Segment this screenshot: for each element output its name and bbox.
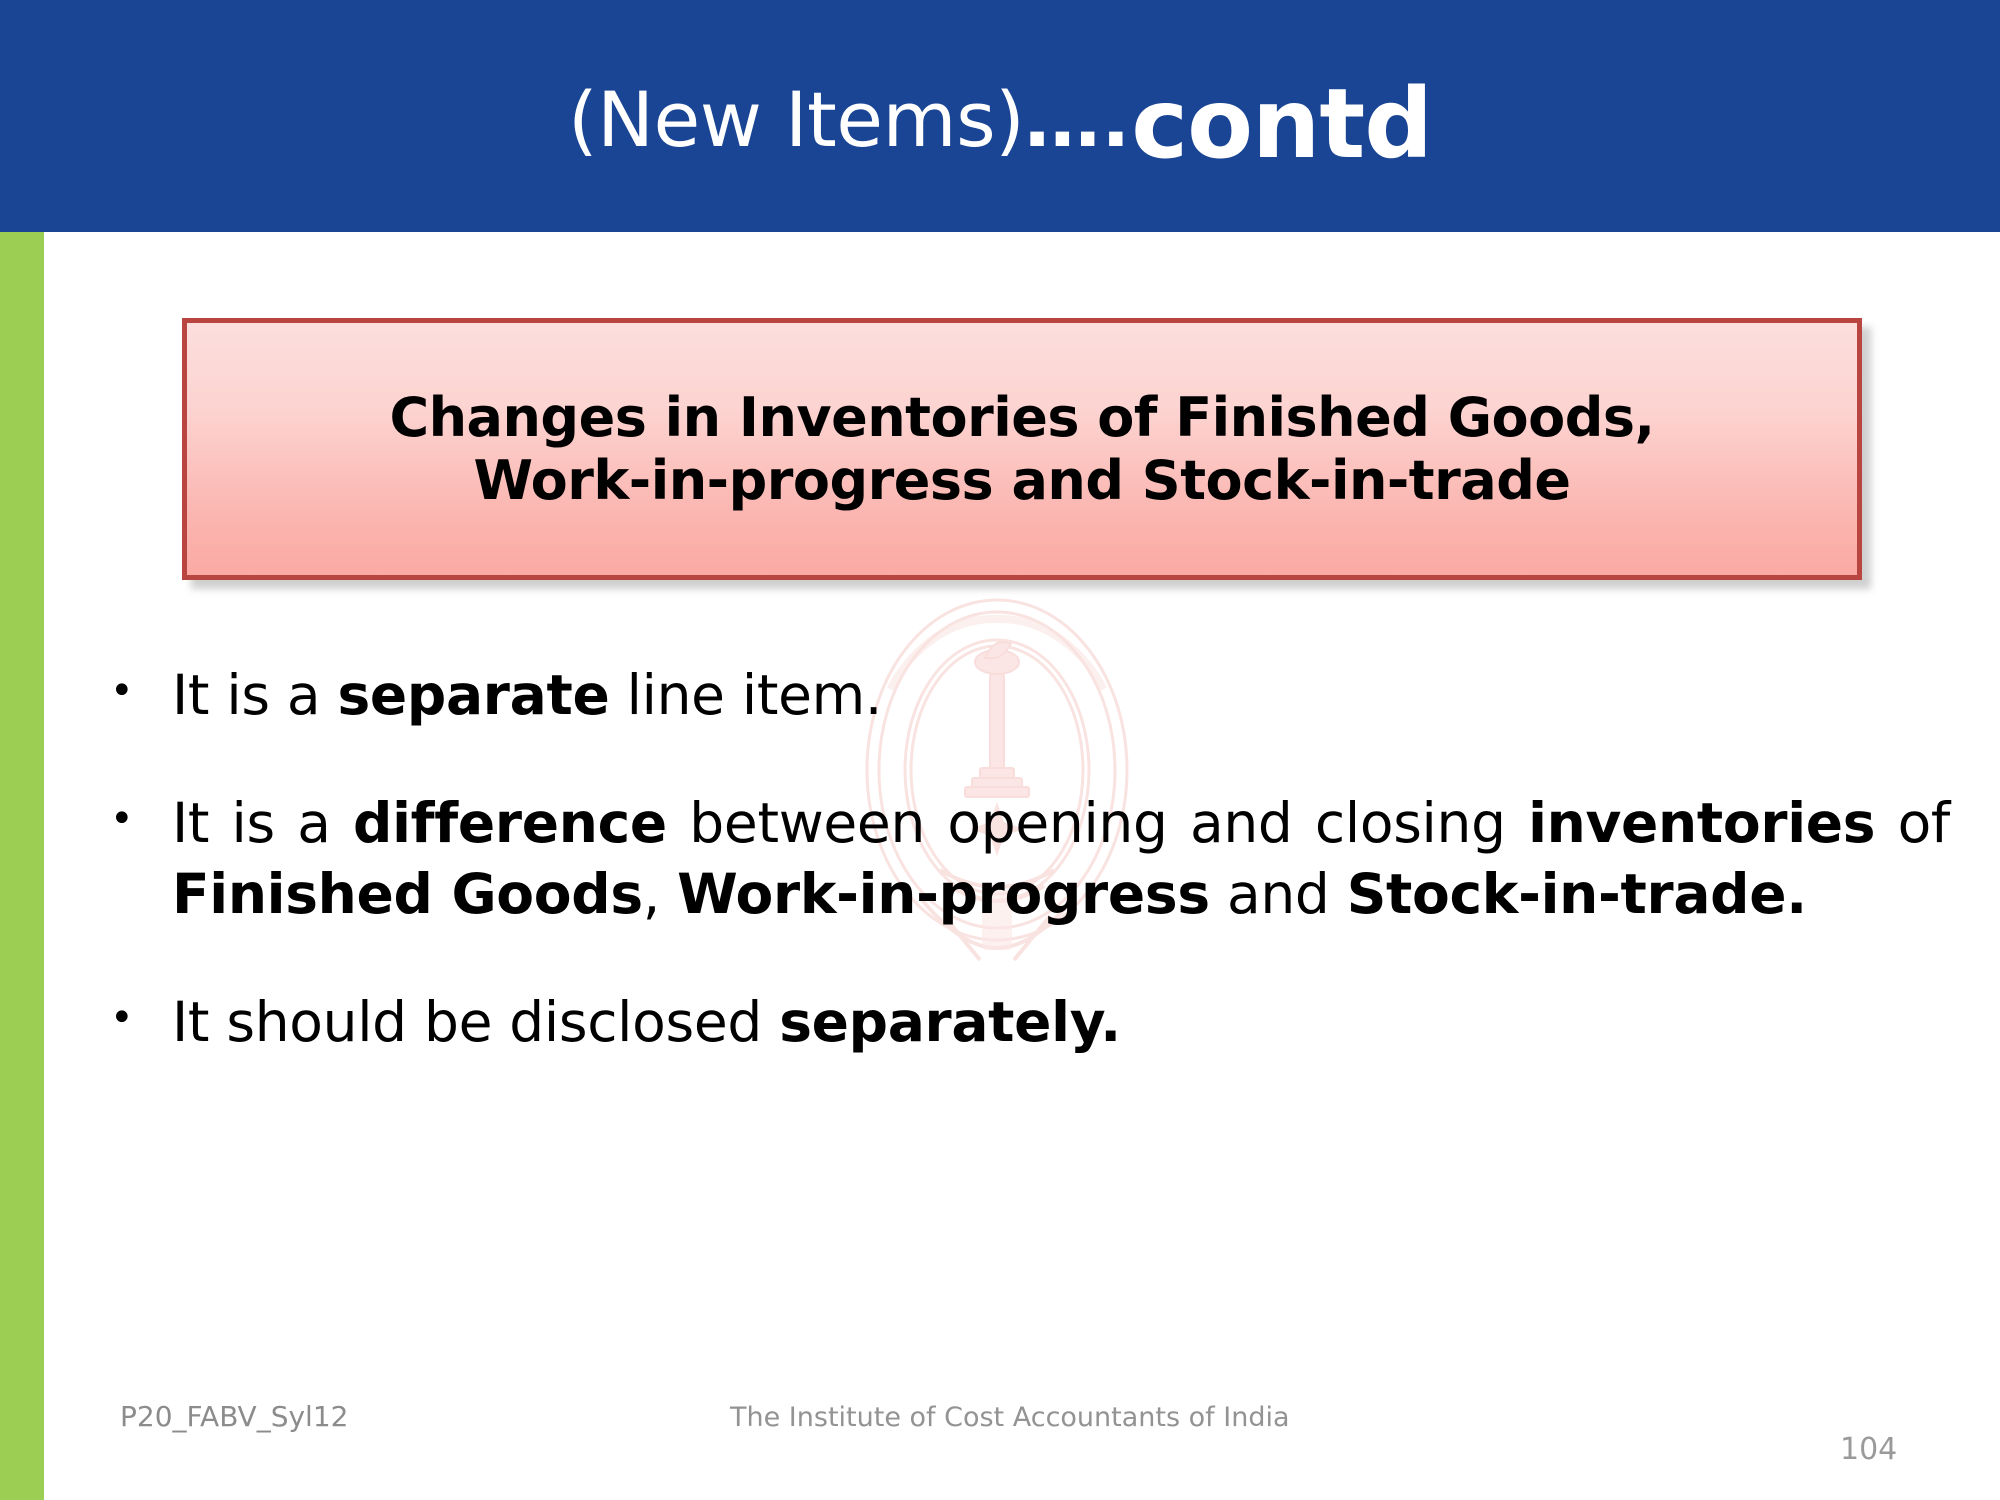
bullet-segment: and — [1210, 862, 1347, 926]
bullet-text-1: It is a separate line item. — [172, 660, 1950, 730]
callout-line-1: Changes in Inventories of Finished Goods… — [389, 386, 1654, 449]
callout-box: Changes in Inventories of Finished Goods… — [182, 318, 1862, 580]
bullet-segment: of — [1875, 791, 1950, 855]
bullet-segment: It should be disclosed — [172, 990, 779, 1054]
footer-organization: The Institute of Cost Accountants of Ind… — [730, 1402, 1290, 1433]
bullet-segment-bold: Work-in-progress — [677, 862, 1210, 926]
page-title-ellipsis: …. — [1024, 82, 1131, 158]
bullet-marker-icon: • — [110, 987, 172, 1044]
left-accent-bar — [0, 232, 44, 1500]
bullet-segment-bold: Stock-in-trade. — [1347, 862, 1807, 926]
bullet-list: • It is a separate line item. • It is a … — [110, 660, 1950, 1116]
list-item: • It is a separate line item. — [110, 660, 1950, 730]
list-item: • It should be disclosed separately. — [110, 987, 1950, 1057]
presentation-slide: (New Items)….contd — [0, 0, 2000, 1500]
bullet-text-3: It should be disclosed separately. — [172, 987, 1950, 1057]
bullet-segment-bold: difference — [353, 791, 667, 855]
bullet-segment: line item. — [609, 663, 882, 727]
bullet-segment: between opening and closing — [667, 791, 1528, 855]
slide-header-banner: (New Items)….contd — [0, 0, 2000, 232]
bullet-text-2: It is a difference between opening and c… — [172, 788, 1950, 929]
bullet-marker-icon: • — [110, 788, 172, 845]
bullet-segment-bold: inventories — [1528, 791, 1875, 855]
bullet-segment: It is a — [172, 791, 353, 855]
bullet-segment-bold: Finished Goods — [172, 862, 643, 926]
page-title-main: (New Items) — [568, 82, 1024, 158]
bullet-segment: , — [643, 862, 677, 926]
callout-line-2: Work-in-progress and Stock-in-trade — [474, 449, 1571, 512]
page-title: (New Items)….contd — [0, 0, 2000, 232]
bullet-segment-bold: separate — [337, 663, 609, 727]
page-title-contd: contd — [1131, 76, 1432, 172]
footer-course-code: P20_FABV_Syl12 — [120, 1400, 348, 1433]
bullet-segment: It is a — [172, 663, 337, 727]
bullet-segment-bold: separately. — [779, 990, 1121, 1054]
bullet-marker-icon: • — [110, 660, 172, 717]
footer-page-number: 104 — [1840, 1432, 1897, 1467]
list-item: • It is a difference between opening and… — [110, 788, 1950, 929]
